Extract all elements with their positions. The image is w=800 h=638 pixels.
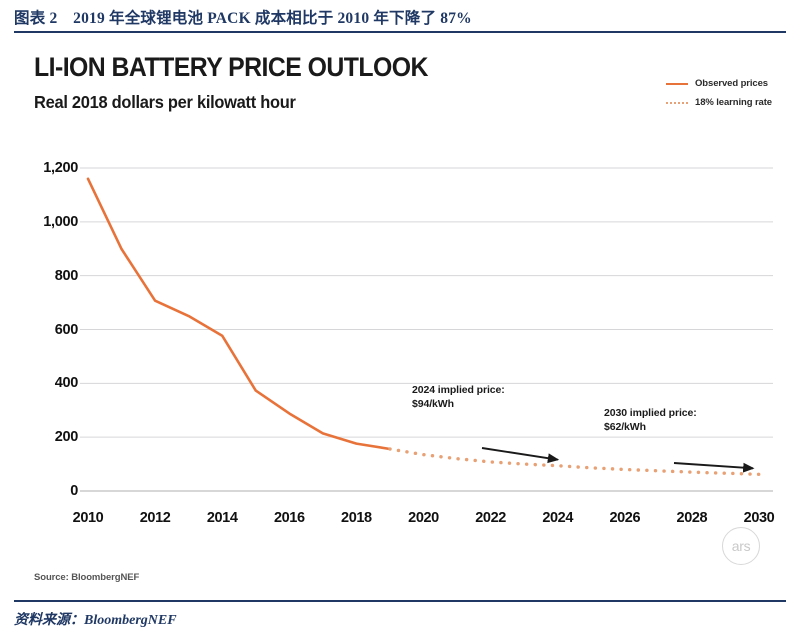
annotation-value: $94/kWh [412, 397, 505, 411]
y-tick-label: 400 [20, 375, 78, 391]
y-tick-label: 800 [20, 268, 78, 284]
x-tick-label: 2020 [394, 510, 454, 526]
y-tick-label: 1,000 [20, 214, 78, 230]
header-divider [14, 31, 786, 33]
x-tick-label: 2028 [662, 510, 722, 526]
footer-divider [14, 600, 786, 602]
x-tick-label: 2026 [595, 510, 655, 526]
report-page: 图表 2 2019 年全球锂电池 PACK 成本相比于 2010 年下降了 87… [0, 0, 800, 638]
footer-source: 资料来源：BloombergNEF [14, 609, 177, 629]
annotation-title: 2030 implied price: [604, 406, 697, 420]
ars-logo-watermark: ars [722, 527, 760, 565]
series-line-1 [390, 449, 759, 474]
chart-card: LI-ION BATTERY PRICE OUTLOOK Real 2018 d… [14, 38, 786, 597]
annotation-2024: 2024 implied price:$94/kWh [412, 383, 505, 411]
x-tick-label: 2014 [192, 510, 252, 526]
annotation-title: 2024 implied price: [412, 383, 505, 397]
annotation-2030: 2030 implied price:$62/kWh [604, 406, 697, 434]
report-header: 图表 2 2019 年全球锂电池 PACK 成本相比于 2010 年下降了 87… [14, 6, 786, 28]
series-line-0 [88, 179, 390, 449]
x-tick-label: 2024 [528, 510, 588, 526]
y-tick-label: 0 [20, 483, 78, 499]
chart-source-note: Source: BloombergNEF [34, 572, 139, 583]
x-tick-label: 2018 [326, 510, 386, 526]
report-title: 图表 2 2019 年全球锂电池 PACK 成本相比于 2010 年下降了 87… [14, 6, 786, 28]
annotation-value: $62/kWh [604, 420, 697, 434]
y-tick-label: 1,200 [20, 160, 78, 176]
x-tick-label: 2030 [729, 510, 786, 526]
y-tick-label: 200 [20, 429, 78, 445]
plot-area: 02004006008001,0001,200 2010201220142016… [14, 38, 786, 597]
x-tick-label: 2022 [461, 510, 521, 526]
x-tick-label: 2016 [259, 510, 319, 526]
x-tick-label: 2010 [58, 510, 118, 526]
x-tick-label: 2012 [125, 510, 185, 526]
y-tick-label: 600 [20, 322, 78, 338]
